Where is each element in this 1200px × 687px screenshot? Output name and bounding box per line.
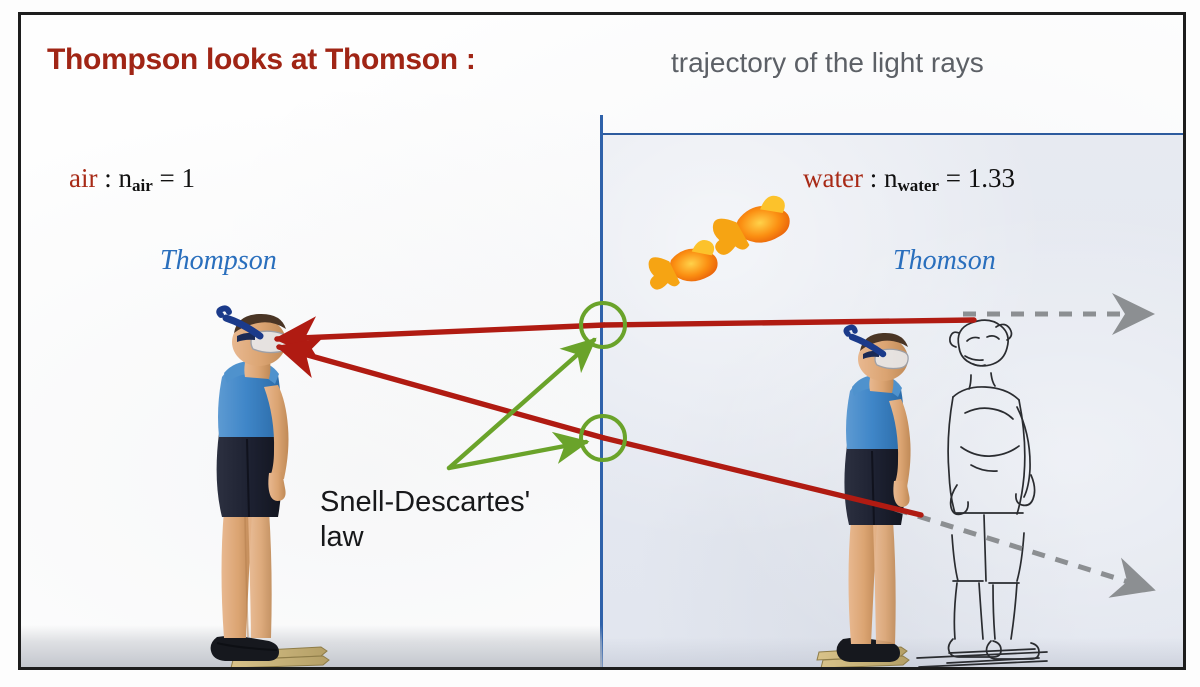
observed-name-label: Thomson	[893, 245, 996, 277]
water-separator: :	[863, 163, 884, 193]
water-index-symbol: n	[884, 163, 898, 193]
air-index-label: air : nair = 1	[69, 163, 195, 196]
observer-name-label: Thompson	[160, 245, 277, 277]
water-index-subscript: water	[897, 176, 939, 195]
air-water-interface-line	[600, 115, 603, 670]
header-title-right: trajectory of the light rays	[671, 47, 984, 79]
snell-pointer-group	[449, 340, 594, 468]
air-equals: =	[153, 163, 182, 193]
air-separator: :	[97, 163, 118, 193]
water-texture	[602, 135, 1186, 670]
snell-descartes-law-annotation: Snell-Descartes' law	[320, 485, 530, 556]
air-index-value: 1	[182, 163, 196, 193]
water-region	[602, 133, 1186, 670]
diver-thompson	[211, 308, 329, 668]
figure-canvas: Thompson looks at Thomson : trajectory o…	[0, 0, 1200, 687]
water-equals: =	[939, 163, 968, 193]
air-material-name: air	[69, 163, 97, 193]
air-index-subscript: air	[132, 176, 153, 195]
water-index-value: 1.33	[968, 163, 1015, 193]
scanned-page-frame: Thompson looks at Thomson : trajectory o…	[18, 12, 1186, 670]
snell-pointer-upper	[449, 340, 594, 468]
light-ray-lower-air-segment	[279, 347, 604, 438]
air-index-symbol: n	[119, 163, 133, 193]
water-material-name: water	[803, 163, 863, 193]
header-title-left: Thompson looks at Thomson :	[47, 43, 476, 77]
snell-pointer-lower	[449, 442, 586, 468]
air-ground-band	[21, 625, 602, 667]
water-floor-band	[602, 637, 1186, 667]
light-ray-upper-air-segment	[277, 325, 604, 339]
water-index-label: water : nwater = 1.33	[803, 163, 1015, 196]
